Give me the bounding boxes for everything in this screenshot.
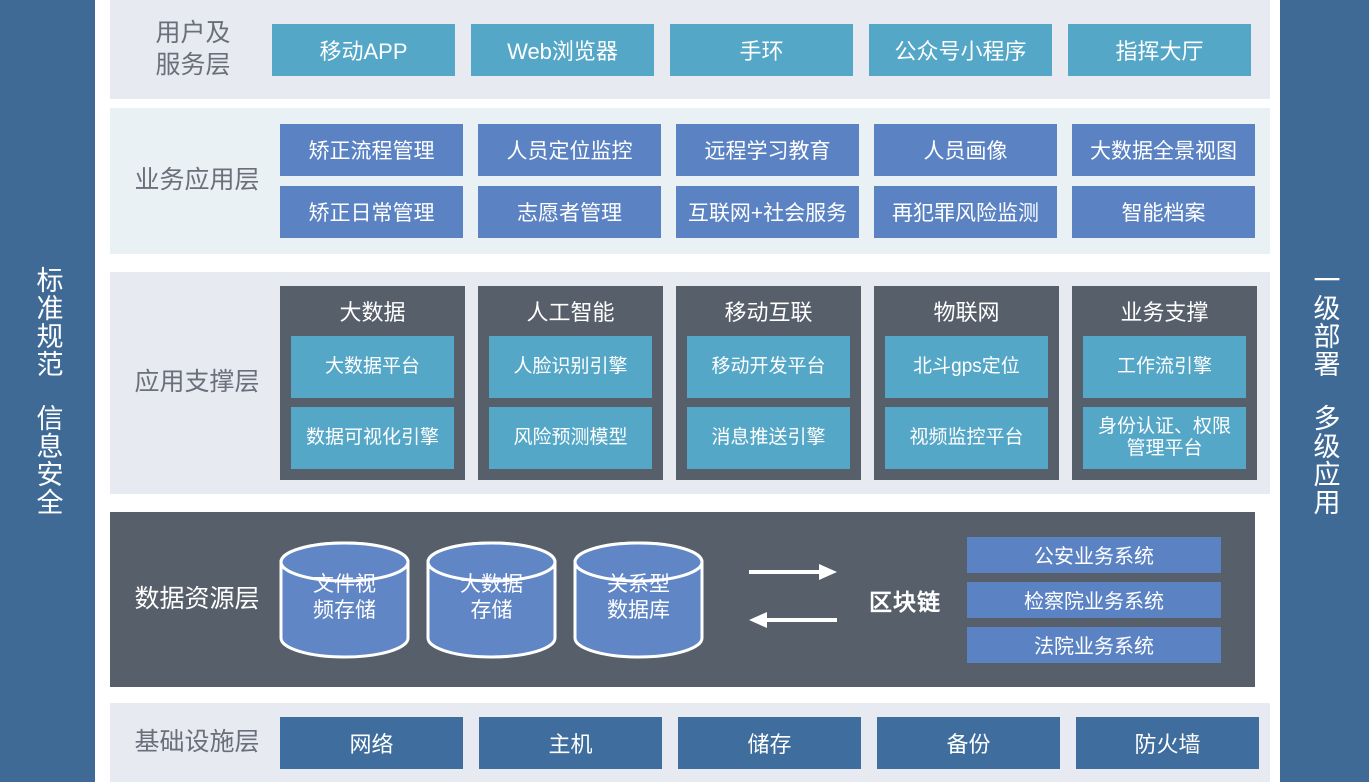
business-application-column: 人员画像 再犯罪风险监测 [874, 124, 1057, 238]
support-group-title: 人工智能 [526, 295, 614, 327]
infrastructure-item[interactable]: 网络 [280, 717, 463, 769]
left-rail-line-1: 标准规范 [30, 266, 64, 378]
support-group-title: 移动互联 [724, 295, 812, 327]
support-group-item[interactable]: 身份认证、权限 管理平台 [1083, 407, 1246, 469]
business-application-grid: 矫正流程管理 矫正日常管理 人员定位监控 志愿者管理 远程学习教育 互联网+社会… [280, 124, 1255, 238]
support-group-item[interactable]: 移动开发平台 [687, 336, 850, 398]
layer-label-data-resource: 数据资源层 [122, 584, 272, 615]
external-system-item[interactable]: 公安业务系统 [967, 537, 1221, 573]
business-application-item[interactable]: 志愿者管理 [478, 186, 661, 238]
support-group-item[interactable]: 风险预测模型 [489, 407, 652, 469]
support-group-item[interactable]: 消息推送引擎 [687, 407, 850, 469]
right-rail: 一级部署 多级应用 [1280, 0, 1369, 782]
data-stores: 文件视 频存储 大数据 存储 关系型 数据库 [278, 540, 705, 660]
support-group-items: 大数据平台 数据可视化引擎 [291, 336, 454, 469]
business-application-item[interactable]: 大数据全景视图 [1072, 124, 1255, 176]
support-group-items: 移动开发平台 消息推送引擎 [687, 336, 850, 469]
support-group-items: 工作流引擎 身份认证、权限 管理平台 [1083, 336, 1246, 469]
support-group-item[interactable]: 北斗gps定位 [885, 336, 1048, 398]
support-group-item[interactable]: 人脸识别引擎 [489, 336, 652, 398]
user-service-item[interactable]: 指挥大厅 [1068, 24, 1251, 76]
user-service-item[interactable]: 手环 [670, 24, 853, 76]
layer-business-application: 业务应用层 矫正流程管理 矫正日常管理 人员定位监控 志愿者管理 远程学习教育 … [110, 108, 1270, 254]
business-application-column: 远程学习教育 互联网+社会服务 [676, 124, 859, 238]
support-group-items: 北斗gps定位 视频监控平台 [885, 336, 1048, 469]
user-service-items: 移动APP Web浏览器 手环 公众号小程序 指挥大厅 [272, 24, 1251, 76]
database-cylinder[interactable]: 文件视 频存储 [278, 540, 411, 660]
business-application-item[interactable]: 智能档案 [1072, 186, 1255, 238]
business-application-item[interactable]: 矫正日常管理 [280, 186, 463, 238]
external-system-item[interactable]: 检察院业务系统 [967, 582, 1221, 618]
data-resource-content: 文件视 频存储 大数据 存储 关系型 数据库 [272, 537, 1255, 663]
user-service-item[interactable]: Web浏览器 [471, 24, 654, 76]
right-rail-line-2: 多级应用 [1307, 404, 1341, 516]
infrastructure-item[interactable]: 备份 [877, 717, 1060, 769]
support-group-ai: 人工智能 人脸识别引擎 风险预测模型 [478, 286, 663, 480]
layer-infrastructure: 基础设施层 网络 主机 储存 备份 防火墙 [110, 703, 1270, 782]
business-application-item[interactable]: 人员画像 [874, 124, 1057, 176]
right-rail-line-1: 一级部署 [1307, 266, 1341, 378]
business-application-item[interactable]: 矫正流程管理 [280, 124, 463, 176]
blockchain-label: 区块链 [869, 583, 941, 617]
cylinder-label: 关系型 数据库 [572, 572, 705, 626]
layer-label-business-application: 业务应用层 [122, 165, 272, 196]
database-cylinder[interactable]: 关系型 数据库 [572, 540, 705, 660]
support-group-item[interactable]: 工作流引擎 [1083, 336, 1246, 398]
layer-label-user-service: 用户及 服务层 [128, 18, 258, 81]
architecture-diagram: 标准规范 信息安全 一级部署 多级应用 用户及 服务层 移动APP Web浏览器… [0, 0, 1369, 782]
support-group-title: 业务支撑 [1120, 295, 1208, 327]
infrastructure-items: 网络 主机 储存 备份 防火墙 [280, 717, 1259, 769]
arrow-right-icon [747, 558, 839, 636]
support-group-mobile: 移动互联 移动开发平台 消息推送引擎 [676, 286, 861, 480]
business-application-column: 矫正流程管理 矫正日常管理 [280, 124, 463, 238]
support-group-item[interactable]: 大数据平台 [291, 336, 454, 398]
layer-label-infrastructure: 基础设施层 [122, 727, 272, 758]
user-service-item[interactable]: 移动APP [272, 24, 455, 76]
cylinder-label: 大数据 存储 [425, 572, 558, 626]
external-systems: 公安业务系统 检察院业务系统 法院业务系统 [967, 537, 1221, 663]
business-application-column: 人员定位监控 志愿者管理 [478, 124, 661, 238]
cylinder-label: 文件视 频存储 [278, 572, 411, 626]
left-rail-line-2: 信息安全 [30, 404, 64, 516]
layer-label-application-support: 应用支撑层 [122, 367, 272, 398]
business-application-item[interactable]: 远程学习教育 [676, 124, 859, 176]
business-application-item[interactable]: 人员定位监控 [478, 124, 661, 176]
support-group-items: 人脸识别引擎 风险预测模型 [489, 336, 652, 469]
support-group-title: 大数据 [339, 295, 405, 327]
bidirectional-arrows [747, 558, 839, 641]
left-rail: 标准规范 信息安全 [0, 0, 95, 782]
external-system-item[interactable]: 法院业务系统 [967, 627, 1221, 663]
business-application-item[interactable]: 互联网+社会服务 [676, 186, 859, 238]
layer-application-support: 应用支撑层 大数据 大数据平台 数据可视化引擎 人工智能 人脸识别引擎 风险预测… [110, 272, 1270, 494]
business-application-column: 大数据全景视图 智能档案 [1072, 124, 1255, 238]
layer-data-resource: 数据资源层 文件视 频存储 大数据 存储 [110, 512, 1255, 687]
application-support-groups: 大数据 大数据平台 数据可视化引擎 人工智能 人脸识别引擎 风险预测模型 移动互… [280, 286, 1257, 480]
support-group-bigdata: 大数据 大数据平台 数据可视化引擎 [280, 286, 465, 480]
database-cylinder[interactable]: 大数据 存储 [425, 540, 558, 660]
support-group-iot: 物联网 北斗gps定位 视频监控平台 [874, 286, 1059, 480]
user-service-item[interactable]: 公众号小程序 [869, 24, 1052, 76]
support-group-title: 物联网 [933, 295, 999, 327]
infrastructure-item[interactable]: 储存 [678, 717, 861, 769]
support-group-item[interactable]: 视频监控平台 [885, 407, 1048, 469]
business-application-item[interactable]: 再犯罪风险监测 [874, 186, 1057, 238]
support-group-item[interactable]: 数据可视化引擎 [291, 407, 454, 469]
infrastructure-item[interactable]: 主机 [479, 717, 662, 769]
support-group-business: 业务支撑 工作流引擎 身份认证、权限 管理平台 [1072, 286, 1257, 480]
layer-user-service: 用户及 服务层 移动APP Web浏览器 手环 公众号小程序 指挥大厅 [110, 0, 1270, 99]
infrastructure-item[interactable]: 防火墙 [1076, 717, 1259, 769]
